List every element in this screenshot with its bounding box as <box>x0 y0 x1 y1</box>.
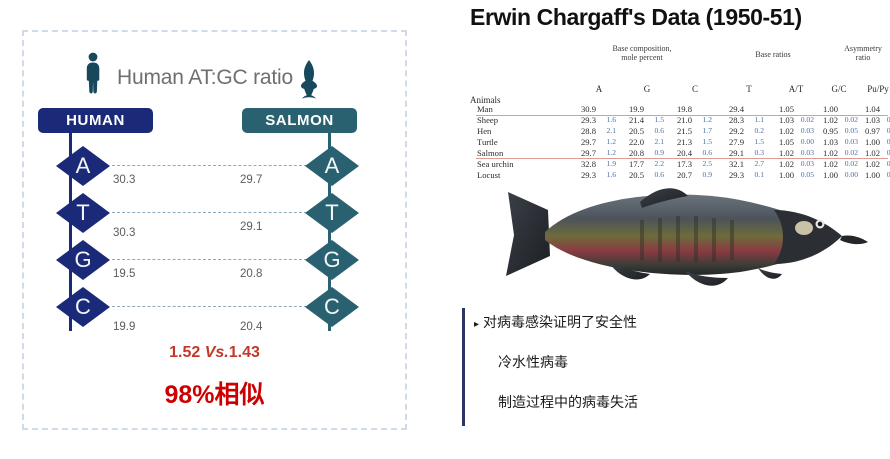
cell-pupy: 0.97 <box>856 126 880 136</box>
cell-gc: 1.00 <box>814 170 838 180</box>
cell-g-err: 1.5 <box>646 115 664 124</box>
base-connector <box>112 259 307 260</box>
column-header-pupy: Pu/Py <box>864 84 890 94</box>
cell-t-err: 0.3 <box>746 148 764 157</box>
salmon-base-value: 20.4 <box>240 321 262 333</box>
column-header-gc: G/C <box>825 84 853 94</box>
cell-at-err: 0.02 <box>796 115 814 124</box>
ratio-human-value: 1.52 <box>169 344 205 361</box>
table-row: Sea urchin 32.8 1.9 17.7 2.2 17.3 2.5 32… <box>470 159 890 170</box>
cell-c-err: 2.5 <box>694 159 712 168</box>
cell-t: 29.2 <box>720 126 744 136</box>
cell-g: 20.5 <box>620 126 644 136</box>
cell-pupy: 1.02 <box>856 148 880 158</box>
cell-at-err: 0.03 <box>796 126 814 135</box>
cell-pupy-err: 0.02 <box>882 148 890 157</box>
cell-c-err: 0.6 <box>694 148 712 157</box>
cell-g-err: 0.6 <box>646 170 664 179</box>
cell-a: 29.3 <box>572 115 596 125</box>
cell-t: 32.1 <box>720 159 744 169</box>
cell-a-err: 1.6 <box>598 170 616 179</box>
ratio-salmon-value: 1.43 <box>229 344 260 361</box>
cell-pupy: 1.04 <box>856 104 880 114</box>
at-gc-ratio-panel: Human AT:GC ratio HUMAN SALMON A A 30.3 … <box>22 30 407 430</box>
cell-at-err: 0.03 <box>796 159 814 168</box>
cell-gc: 1.00 <box>814 104 838 114</box>
cell-t-err: 1.5 <box>746 137 764 146</box>
cell-c: 17.3 <box>668 159 692 169</box>
cell-c: 19.8 <box>668 104 692 114</box>
column-header-g: G <box>633 84 661 94</box>
cell-t: 28.3 <box>720 115 744 125</box>
cell-pupy: 1.03 <box>856 115 880 125</box>
table-row: Hen 28.8 2.1 20.5 0.6 21.5 1.7 29.2 0.2 … <box>470 126 890 137</box>
base-row-t: T T 30.3 29.1 <box>24 189 405 235</box>
cell-c: 21.0 <box>668 115 692 125</box>
asymmetry-label: Asymmetry ratio <box>844 44 882 62</box>
salmon-header-label: SALMON <box>265 112 334 129</box>
chargaff-data-table: Base composition, mole percent Base rati… <box>470 40 890 173</box>
cell-pupy-err: 0.01 <box>882 115 890 124</box>
list-item: 冷水性病毒 <box>498 352 568 372</box>
cell-t: 29.3 <box>720 170 744 180</box>
list-item-label: 冷水性病毒 <box>498 355 568 371</box>
cell-at: 1.05 <box>770 104 794 114</box>
cell-gc: 1.02 <box>814 148 838 158</box>
salmon-base-value: 29.7 <box>240 174 262 186</box>
table-row: Salmon 29.7 1.2 20.8 0.9 20.4 0.6 29.1 0… <box>470 148 890 159</box>
cell-c: 20.7 <box>668 170 692 180</box>
salmon-figure-icon <box>297 60 323 102</box>
cell-pupy-err: 0.04 <box>882 137 890 146</box>
cell-at-err: 0.03 <box>796 148 814 157</box>
chinese-bullet-list: ▸对病毒感染证明了安全性 冷水性病毒 制造过程中的病毒失活 <box>462 308 882 428</box>
cell-gc: 0.95 <box>814 126 838 136</box>
table-row: Sheep 29.3 1.6 21.4 1.5 21.0 1.2 28.3 1.… <box>470 115 890 126</box>
cell-pupy: 1.02 <box>856 159 880 169</box>
row-label: Sheep <box>477 115 498 125</box>
cell-gc: 1.02 <box>814 115 838 125</box>
cell-g: 21.4 <box>620 115 644 125</box>
ratio-title-row: Human AT:GC ratio <box>24 46 405 106</box>
vs-label: Vs. <box>205 344 229 361</box>
human-base-value: 19.9 <box>113 321 135 333</box>
cell-g-err: 0.6 <box>646 126 664 135</box>
salmon-base-value: 20.8 <box>240 268 262 280</box>
salmon-base-value: 29.1 <box>240 221 262 233</box>
cell-c-err: 1.5 <box>694 137 712 146</box>
base-row-c: C C 19.9 20.4 <box>24 283 405 329</box>
list-item-label: 对病毒感染证明了安全性 <box>483 315 637 331</box>
bullet-marker: ▸ <box>474 319 479 330</box>
cell-t-err: 2.7 <box>746 159 764 168</box>
cell-pupy: 1.00 <box>856 170 880 180</box>
row-label: Turtle <box>477 137 498 147</box>
cell-at: 1.03 <box>770 115 794 125</box>
column-header-a: A <box>585 84 613 94</box>
table-row: Man 30.9 19.9 19.8 29.4 1.05 1.00 1.04 1… <box>470 104 890 115</box>
cell-a: 30.9 <box>572 104 596 114</box>
cell-a-err: 1.9 <box>598 159 616 168</box>
human-figure-icon <box>82 52 104 100</box>
row-label: Sea urchin <box>477 159 514 169</box>
cell-a: 29.3 <box>572 170 596 180</box>
cell-a-err: 2.1 <box>598 126 616 135</box>
salmon-photo <box>490 180 880 300</box>
cell-at: 1.02 <box>770 159 794 169</box>
cell-g: 22.0 <box>620 137 644 147</box>
cell-a: 29.7 <box>572 148 596 158</box>
column-header-c: C <box>681 84 709 94</box>
column-header-t: T <box>735 84 763 94</box>
cell-a-err: 1.2 <box>598 137 616 146</box>
cell-a: 29.7 <box>572 137 596 147</box>
cell-pupy: 1.00 <box>856 137 880 147</box>
row-label: Salmon <box>477 148 503 158</box>
cell-g-err: 2.2 <box>646 159 664 168</box>
cell-a: 28.8 <box>572 126 596 136</box>
human-header-label: HUMAN <box>66 112 125 129</box>
chargaff-panel: Erwin Chargaff's Data (1950-51) Base com… <box>470 0 890 459</box>
cell-g: 20.8 <box>620 148 644 158</box>
base-connector <box>112 165 307 166</box>
cell-c-err: 0.9 <box>694 170 712 179</box>
chargaff-title: Erwin Chargaff's Data (1950-51) <box>470 4 802 31</box>
cell-t: 29.1 <box>720 148 744 158</box>
human-base-diamond: C <box>56 287 110 327</box>
cell-c-err: 1.7 <box>694 126 712 135</box>
cell-at: 1.00 <box>770 170 794 180</box>
salmon-header-pill: SALMON <box>242 108 357 133</box>
cell-t-err: 0.1 <box>746 170 764 179</box>
table-group-header-base-ratios: Base ratios <box>725 50 821 59</box>
cell-gc: 1.03 <box>814 137 838 147</box>
cell-c: 21.5 <box>668 126 692 136</box>
cell-c: 21.3 <box>668 137 692 147</box>
cell-c-err: 1.2 <box>694 115 712 124</box>
salmon-base-diamond: G <box>305 240 359 280</box>
cell-at: 1.02 <box>770 126 794 136</box>
cell-g-err: 0.9 <box>646 148 664 157</box>
cell-a: 32.8 <box>572 159 596 169</box>
cell-at-err: 0.05 <box>796 170 814 179</box>
base-row-g: G G 19.5 20.8 <box>24 236 405 282</box>
human-base-value: 19.5 <box>113 268 135 280</box>
human-base-diamond: A <box>56 146 110 186</box>
base-connector <box>112 306 307 307</box>
list-item-label: 制造过程中的病毒失活 <box>498 395 638 411</box>
cell-gc: 1.02 <box>814 159 838 169</box>
list-item: 制造过程中的病毒失活 <box>498 392 638 412</box>
base-row-a: A A 30.3 29.7 <box>24 142 405 188</box>
cell-t-err: 0.2 <box>746 126 764 135</box>
cell-pupy-err: 0.02 <box>882 159 890 168</box>
cell-t: 29.4 <box>720 104 744 114</box>
row-label: Locust <box>477 170 500 180</box>
table-group-header-base-composition: Base composition, mole percent <box>582 44 702 62</box>
ratio-comparison: 1.52 Vs.1.43 <box>24 344 405 362</box>
cell-g: 20.5 <box>620 170 644 180</box>
base-connector <box>112 212 307 213</box>
row-label: Man <box>477 104 493 114</box>
table-row: Turtle 29.7 1.2 22.0 2.1 21.3 1.5 27.9 1… <box>470 137 890 148</box>
cell-pupy-err: 0.07 <box>882 126 890 135</box>
cell-a-err: 1.6 <box>598 115 616 124</box>
column-header-at: A/T <box>782 84 810 94</box>
salmon-base-diamond: A <box>305 146 359 186</box>
base-composition-label: Base composition, mole percent <box>612 44 671 62</box>
human-base-diamond: G <box>56 240 110 280</box>
similarity-callout: 98%相似 <box>24 375 405 411</box>
cell-g: 17.7 <box>620 159 644 169</box>
salmon-base-diamond: T <box>305 193 359 233</box>
row-label: Hen <box>477 126 491 136</box>
cell-at-err: 0.00 <box>796 137 814 146</box>
page-title: Human AT:GC ratio <box>110 66 300 90</box>
list-item: ▸对病毒感染证明了安全性 <box>474 312 637 332</box>
cell-t: 27.9 <box>720 137 744 147</box>
cell-at: 1.02 <box>770 148 794 158</box>
table-row: Locust 29.3 1.6 20.5 0.6 20.7 0.9 29.3 0… <box>470 170 890 181</box>
human-base-diamond: T <box>56 193 110 233</box>
cell-t-err: 1.1 <box>746 115 764 124</box>
salmon-base-diamond: C <box>305 287 359 327</box>
cell-g-err: 2.1 <box>646 137 664 146</box>
table-group-header-asymmetry: Asymmetry ratio <box>836 44 890 62</box>
bullet-list-rule <box>462 308 465 426</box>
cell-pupy-err: 0.04 <box>882 170 890 179</box>
cell-a-err: 1.2 <box>598 148 616 157</box>
human-base-value: 30.3 <box>113 174 135 186</box>
cell-at: 1.05 <box>770 137 794 147</box>
cell-g: 19.9 <box>620 104 644 114</box>
human-header-pill: HUMAN <box>38 108 153 133</box>
cell-c: 20.4 <box>668 148 692 158</box>
